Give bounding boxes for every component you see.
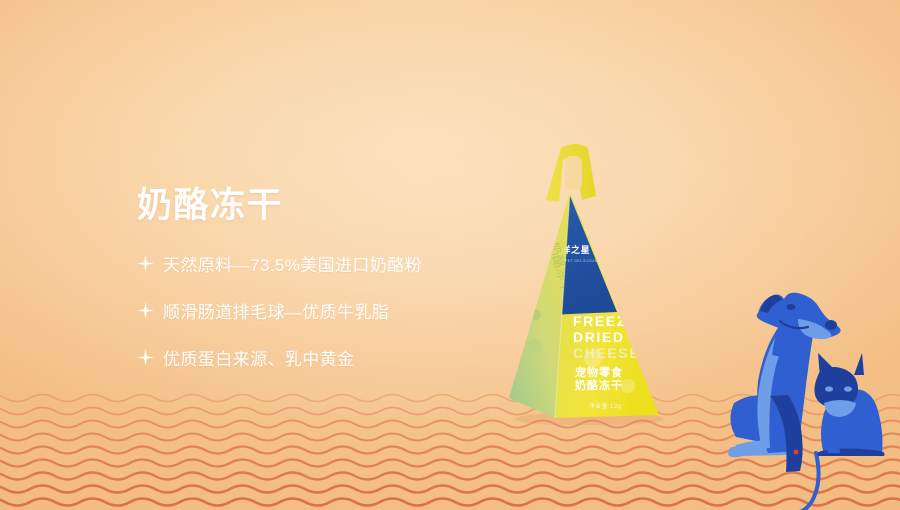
promo-banner: 奶酪冻干 天然原料—73.5%美国进口奶酪粉 顺滑肠道排毛球—优质牛乳脂 (0, 0, 900, 510)
package-headline-line1: FREEZE (573, 313, 638, 329)
list-item: 顺滑肠道排毛球—优质牛乳脂 (137, 298, 517, 323)
page-title: 奶酪冻干 (137, 186, 517, 225)
package-subhead-line1: 宠物零食 (575, 365, 623, 379)
sparkle-icon (137, 302, 154, 319)
sparkle-icon (137, 349, 154, 366)
list-item: 天然原料—73.5%美国进口奶酪粉 (137, 251, 517, 276)
package-handle (546, 144, 596, 202)
feature-list: 天然原料—73.5%美国进口奶酪粉 顺滑肠道排毛球—优质牛乳脂 优质蛋白来源、乳… (137, 251, 517, 370)
product-package: 奶酪冻干 海洋之星 HEALTHY P (497, 140, 687, 425)
cheese-hole (621, 379, 635, 393)
paw-accent (794, 450, 799, 455)
list-item-label: 优质蛋白来源、乳中黄金 (163, 345, 354, 370)
sparkle-icon (137, 255, 154, 272)
list-item-label: 天然原料—73.5%美国进口奶酪粉 (163, 251, 422, 276)
list-item: 优质蛋白来源、乳中黄金 (137, 345, 517, 370)
copy-block: 奶酪冻干 天然原料—73.5%美国进口奶酪粉 顺滑肠道排毛球—优质牛乳脂 (137, 186, 517, 370)
cheese-hole (608, 269, 630, 291)
pets-illustration (728, 285, 900, 510)
cheese-hole (628, 316, 656, 344)
package-subhead-line2: 奶酪冻干 (575, 378, 623, 392)
package-headline-line3: CHEESE (573, 345, 640, 361)
package-headline-line2: DRIED (573, 329, 625, 345)
sitting-cat (814, 353, 884, 456)
package-net-weight: 净含量:12g (589, 402, 621, 410)
list-item-label: 顺滑肠道排毛球—优质牛乳脂 (163, 298, 389, 323)
